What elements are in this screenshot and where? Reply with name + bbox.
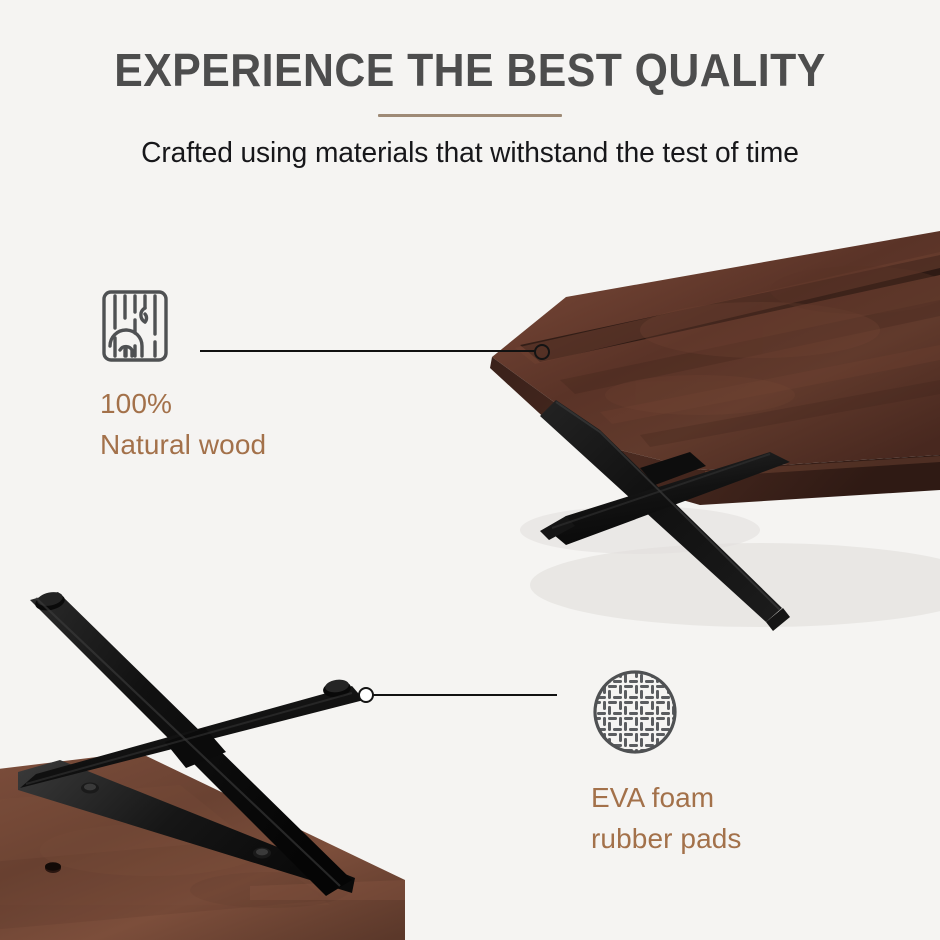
wood-grain-icon — [100, 288, 170, 364]
feature-label-line2: Natural wood — [100, 425, 266, 466]
woven-foam-icon — [591, 668, 679, 756]
infographic-page: EXPERIENCE THE BEST QUALITY Crafted usin… — [0, 0, 940, 940]
feature-label-line1: EVA foam — [591, 778, 742, 819]
title-divider — [378, 114, 562, 117]
feature-label-line2: rubber pads — [591, 819, 742, 860]
header-block: EXPERIENCE THE BEST QUALITY Crafted usin… — [0, 0, 940, 170]
feature-eva-foam: EVA foam rubber pads — [591, 668, 742, 859]
callout-line-2 — [373, 694, 557, 696]
page-subtitle: Crafted using materials that withstand t… — [14, 126, 926, 170]
feature-natural-wood: 100% Natural wood — [100, 288, 266, 465]
title-divider-wrap — [0, 106, 940, 126]
page-title: EXPERIENCE THE BEST QUALITY — [33, 0, 907, 96]
callout-dot-2 — [358, 687, 374, 703]
feature-label-line1: 100% — [100, 384, 266, 425]
